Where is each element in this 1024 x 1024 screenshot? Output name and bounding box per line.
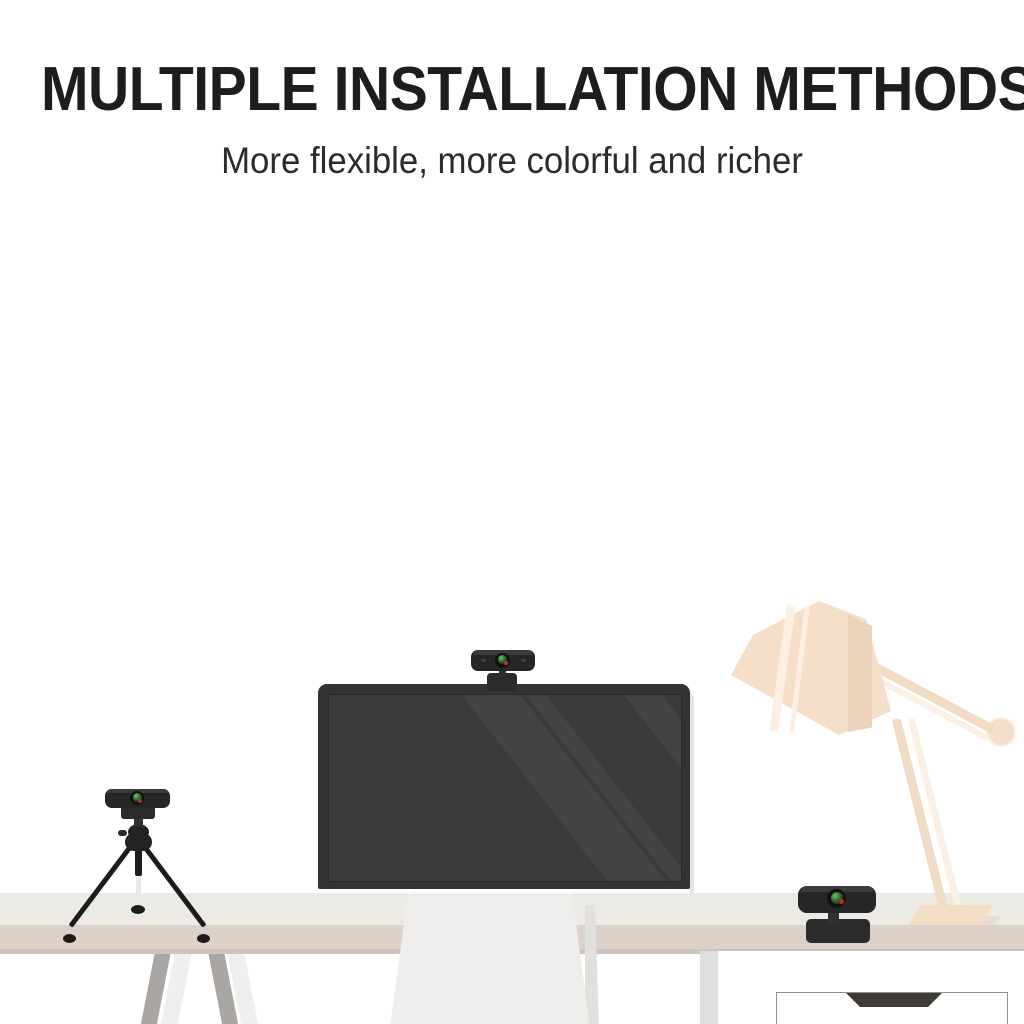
webcam-mic-left xyxy=(481,659,486,662)
scene-illustration xyxy=(0,0,1024,1024)
tripod-foot-left xyxy=(63,934,76,943)
tripod-knob xyxy=(118,830,127,836)
webcam-indicator-icon xyxy=(839,899,844,904)
drawer-handle xyxy=(846,993,942,1007)
tripod-foot-center xyxy=(131,905,145,914)
webcam-indicator-icon xyxy=(138,799,142,803)
webcam-mic-right xyxy=(521,659,526,662)
lamp-base xyxy=(908,905,994,925)
monitor-screen xyxy=(328,694,682,882)
product-banner: MULTIPLE INSTALLATION METHODS More flexi… xyxy=(0,0,1024,1024)
tripod-foot-right xyxy=(197,934,210,943)
office-chair-back xyxy=(390,893,590,1024)
lamp-shade-shadow xyxy=(848,614,872,732)
webcam-indicator-icon xyxy=(504,661,508,665)
